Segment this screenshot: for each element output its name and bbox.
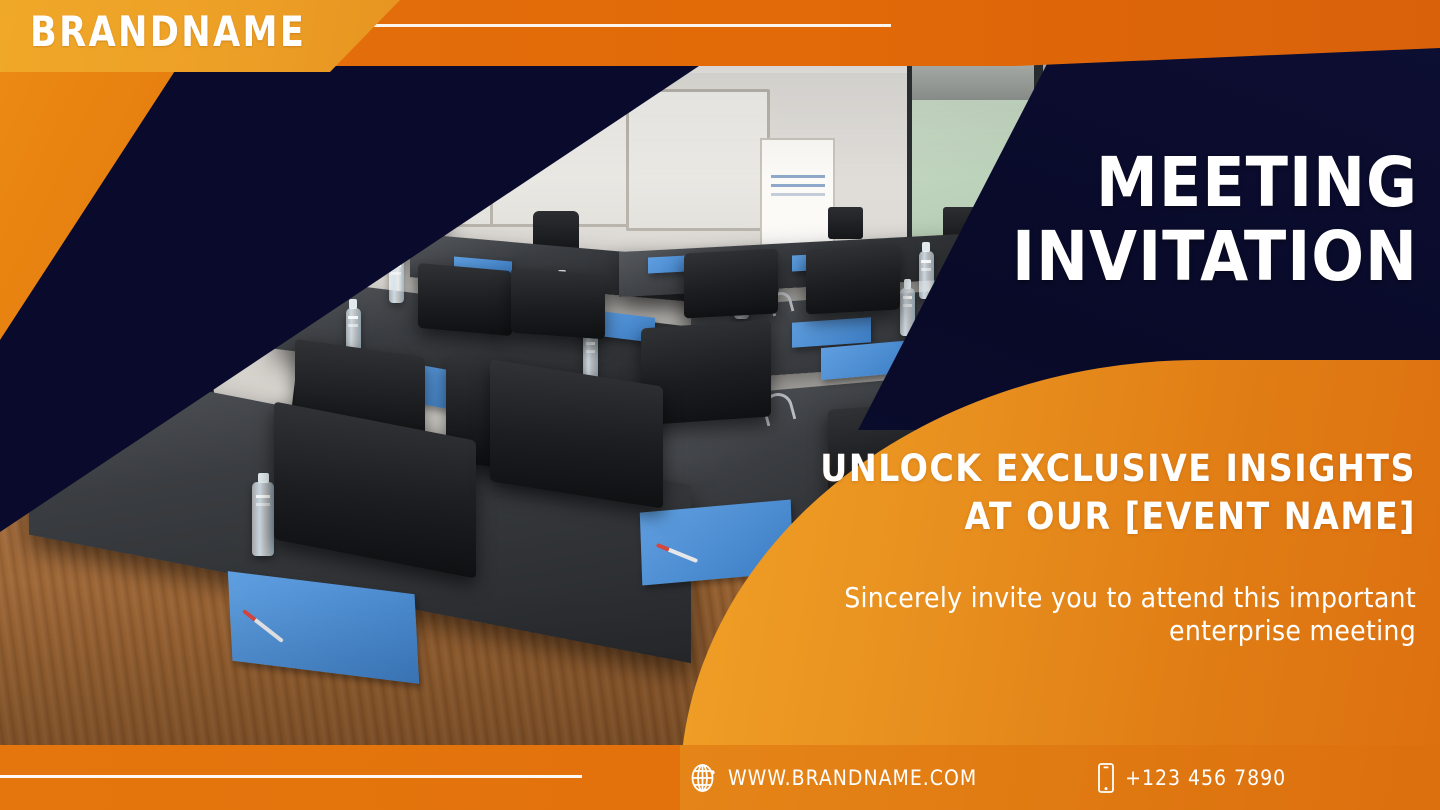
website-label: WWW.BRANDNAME.COM xyxy=(728,766,977,790)
phone-item[interactable]: +123 456 7890 xyxy=(1097,762,1286,794)
subtext-block: Sincerely invite you to attend this impo… xyxy=(806,581,1416,647)
brand-name: BRANDNAME xyxy=(30,11,306,53)
subtext-line-2: enterprise meeting xyxy=(806,614,1416,647)
headline-block: UNLOCK EXCLUSIVE INSIGHTS AT OUR [EVENT … xyxy=(816,445,1416,541)
phone-label: +123 456 7890 xyxy=(1125,766,1286,790)
invitation-poster: MEETING INVITATION UNLOCK EXCLUSIVE INSI… xyxy=(0,0,1440,810)
top-band-rule xyxy=(357,24,891,27)
title-line-2: INVITATION xyxy=(878,220,1418,294)
title-block: MEETING INVITATION xyxy=(878,146,1418,294)
subtext-line-1: Sincerely invite you to attend this impo… xyxy=(806,581,1416,614)
globe-icon xyxy=(690,763,718,793)
footer-contact-items: WWW.BRANDNAME.COM +123 456 7890 xyxy=(690,745,1440,810)
mobile-phone-icon xyxy=(1097,762,1115,794)
title-line-1: MEETING xyxy=(878,146,1418,220)
headline-line-2: AT OUR [EVENT NAME] xyxy=(816,493,1416,541)
website-item[interactable]: WWW.BRANDNAME.COM xyxy=(690,763,977,793)
footer-rule xyxy=(0,775,582,778)
headline-line-1: UNLOCK EXCLUSIVE INSIGHTS xyxy=(816,445,1416,493)
